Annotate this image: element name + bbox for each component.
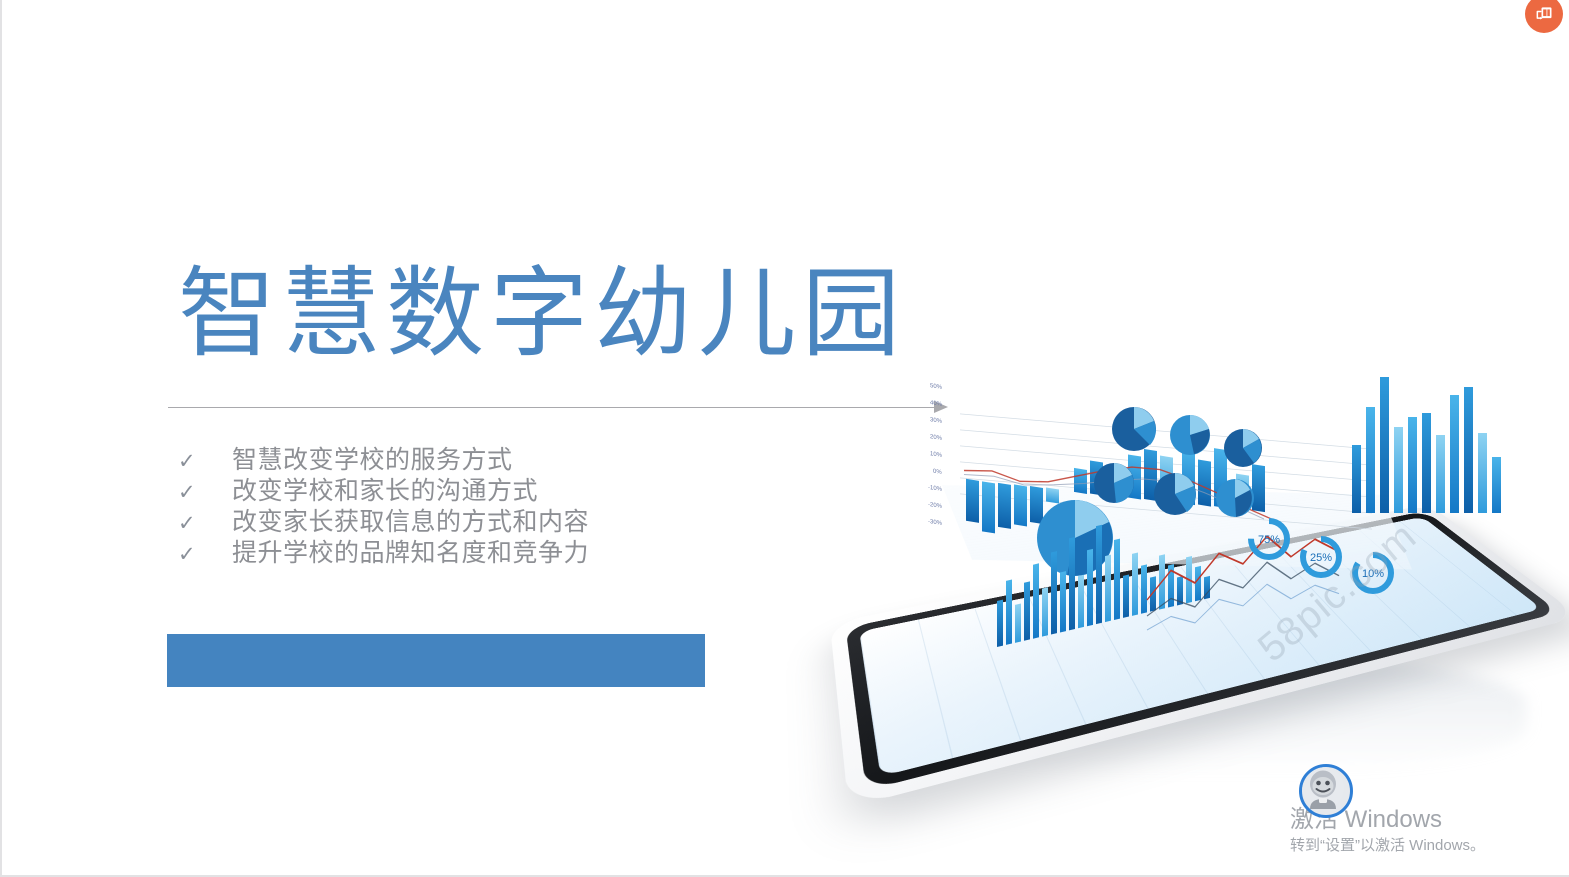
svg-text:50%: 50% [930,383,943,391]
page-title: 智慧数字幼儿园 [178,262,906,368]
assistant-avatar-icon[interactable] [1299,764,1353,818]
svg-text:75%: 75% [1258,534,1280,546]
presentation-slides-icon[interactable] [1525,0,1563,33]
tablet-chart-illustration: 50% 40% 30% 20% 10% 0% -10% -20% -30% [847,355,1569,775]
bullet-list: ✓ 智慧改变学校的服务方式 ✓ 改变学校和家长的沟通方式 ✓ 改变家长获取信息的… [178,440,738,564]
floating-charts: 50% 40% 30% 20% 10% 0% -10% -20% -30% [847,355,1569,675]
svg-text:-30%: -30% [928,519,943,527]
svg-text:25%: 25% [1310,552,1332,564]
svg-text:40%: 40% [930,400,943,408]
arrow-divider [168,406,948,408]
accent-bar [167,634,705,687]
list-item: ✓ 改变家长获取信息的方式和内容 [178,502,738,533]
svg-text:-10%: -10% [928,485,943,493]
divider-line [168,407,936,408]
checkmark-icon: ✓ [178,544,232,565]
svg-text:-20%: -20% [928,502,943,510]
activation-subtitle: 转到“设置”以激活 Windows。 [1290,835,1560,857]
checkmark-icon: ✓ [178,482,232,503]
svg-text:10%: 10% [1362,568,1384,580]
checkmark-icon: ✓ [178,451,232,472]
list-item: ✓ 智慧改变学校的服务方式 [178,440,738,471]
svg-text:0%: 0% [933,469,942,476]
presentation-slide: 智慧数字幼儿园 ✓ 智慧改变学校的服务方式 ✓ 改变学校和家长的沟通方式 ✓ 改… [0,0,1569,877]
checkmark-icon: ✓ [178,513,232,534]
list-item: ✓ 提升学校的品牌知名度和竞争力 [178,533,738,564]
list-item: ✓ 改变学校和家长的沟通方式 [178,471,738,502]
svg-text:10%: 10% [930,451,943,459]
svg-text:20%: 20% [930,434,943,442]
list-item-label: 提升学校的品牌知名度和竞争力 [232,533,589,569]
svg-text:30%: 30% [930,417,943,425]
